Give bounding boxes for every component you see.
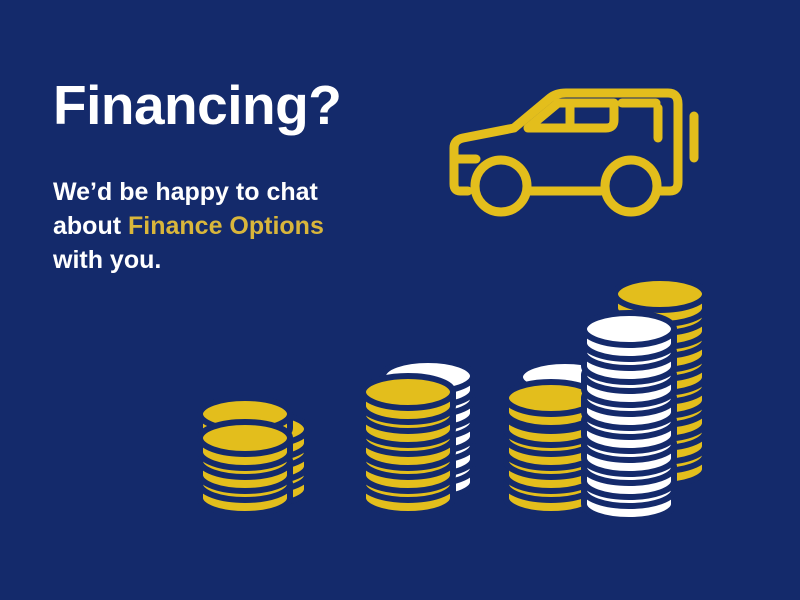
front-stack-gold-small	[200, 398, 290, 444]
suv-car-icon	[446, 76, 716, 221]
body-line-2-prefix: about	[53, 212, 128, 240]
front-stack-gold-small-lower	[200, 422, 290, 514]
text-block: Financing? We’d be happy to chat about F…	[53, 78, 433, 277]
financing-promo-slide: Financing? We’d be happy to chat about F…	[0, 0, 800, 600]
coin-stack-group-medium	[363, 360, 473, 514]
front-stack-gold-medium	[363, 376, 453, 514]
back-stack-gold-large	[615, 278, 705, 485]
rear-wheel-icon	[605, 160, 657, 212]
peek-coin-white-large	[520, 361, 610, 407]
front-wheel-icon	[475, 160, 527, 212]
front-stack-white-large	[584, 313, 674, 520]
body-copy: We’d be happy to chat about Finance Opti…	[53, 175, 433, 277]
body-line-1: We’d be happy to chat	[53, 178, 318, 206]
front-stack-gold-large	[506, 382, 596, 514]
coin-stack-group-small	[200, 398, 307, 514]
finance-options-link[interactable]: Finance Options	[128, 212, 324, 240]
back-stack-white-medium	[383, 360, 473, 498]
back-stack-gold-small	[217, 413, 307, 505]
page-title: Financing?	[53, 78, 433, 133]
coin-stack-group-large	[506, 278, 705, 520]
body-line-3: with you.	[53, 246, 161, 274]
